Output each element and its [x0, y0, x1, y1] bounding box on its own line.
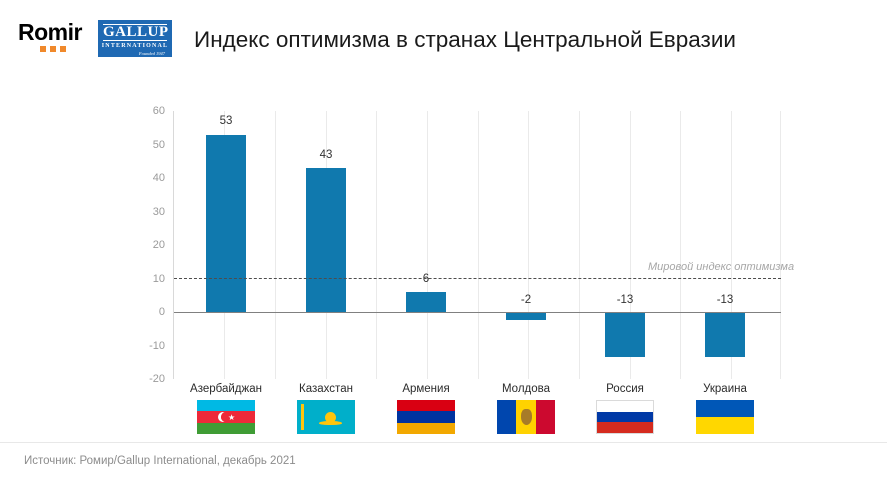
bar-russia: [605, 313, 645, 357]
bar-azerbaijan: [206, 135, 246, 313]
y-axis-tick: 60: [133, 105, 165, 117]
gridline: [275, 111, 276, 379]
bar-moldova: [506, 313, 546, 320]
bar-kazakhstan: [306, 168, 346, 312]
y-axis-tick: 40: [133, 172, 165, 184]
gridline: [680, 111, 681, 379]
bar-ukraine: [705, 313, 745, 357]
plot-area: [174, 111, 781, 379]
bar-armenia: [406, 292, 446, 312]
bar-value-label: -13: [595, 294, 655, 306]
y-axis-tick: 20: [133, 239, 165, 251]
y-axis-tick: 50: [133, 139, 165, 151]
category-label-azerbaijan: Азербайджан: [171, 383, 281, 395]
y-axis-tick: -10: [133, 340, 165, 352]
moldova-flag-icon: [497, 400, 555, 434]
category-label-moldova: Молдова: [471, 383, 581, 395]
ukraine-flag-icon: [696, 400, 754, 434]
azerbaijan-flag-icon: ★: [197, 400, 255, 434]
category-label-armenia: Армения: [371, 383, 481, 395]
reference-line-world-index: [174, 278, 781, 279]
zero-axis-line: [174, 312, 781, 313]
russia-flag-icon: [596, 400, 654, 434]
reference-line-label: Мировой индекс оптимизма: [648, 261, 794, 273]
y-axis-tick: 0: [133, 306, 165, 318]
gridline: [579, 111, 580, 379]
gridline: [528, 111, 529, 379]
gridline: [478, 111, 479, 379]
category-label-kazakhstan: Казахстан: [271, 383, 381, 395]
category-label-russia: Россия: [570, 383, 680, 395]
chart-page: Romir GALLUP INTERNATIONAL Founded 1947 …: [0, 0, 887, 494]
chart-plot: 60 50 40 30 20 10 0 -10 -20: [0, 0, 887, 494]
bar-value-label: -13: [695, 294, 755, 306]
category-label-ukraine: Украина: [670, 383, 780, 395]
armenia-flag-icon: [397, 400, 455, 434]
y-axis-tick: -20: [133, 373, 165, 385]
footer-divider: [0, 442, 887, 443]
y-axis-tick: 10: [133, 273, 165, 285]
bar-value-label: -2: [496, 294, 556, 306]
kazakhstan-flag-icon: [297, 400, 355, 434]
gridline: [427, 111, 428, 379]
source-text: Источник: Ромир/Gallup International, де…: [24, 455, 296, 467]
bar-value-label: 53: [196, 115, 256, 127]
gridline: [376, 111, 377, 379]
gridline: [780, 111, 781, 379]
bar-value-label: 43: [296, 149, 356, 161]
y-axis-tick: 30: [133, 206, 165, 218]
